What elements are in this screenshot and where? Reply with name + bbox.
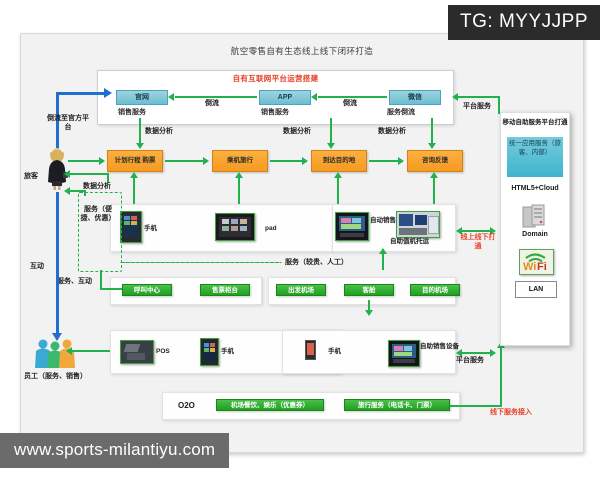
pos-terminal-icon	[120, 340, 154, 364]
internet-platform-title: 自有互联网平台运营搭建	[98, 73, 453, 84]
connector-platform-service-top	[458, 96, 500, 98]
connector-app-step3	[330, 118, 332, 144]
connector-step2-devices	[238, 176, 240, 204]
connector-platform-service-bottom	[460, 352, 492, 354]
site-watermark: www.sports-milantiyu.com	[0, 433, 229, 468]
service-dashed-region	[78, 192, 122, 272]
device-label-pad: pad	[265, 225, 277, 233]
arrow-wechat-to-app	[311, 93, 317, 101]
arrow-step2-step3	[302, 157, 308, 165]
divert-path-horizontal	[56, 92, 108, 95]
arrow-devices-step1	[130, 172, 138, 178]
domain-server-icon	[521, 203, 551, 231]
connector-step1-step2	[165, 160, 205, 162]
touchpoint-call-center[interactable]: 呼叫中心	[122, 284, 172, 296]
connector-touchpoint-left-v	[100, 270, 102, 290]
staff-kiosk-icon	[388, 340, 420, 367]
connector-step4-devices	[433, 176, 435, 204]
connector-website-step1	[139, 118, 141, 144]
arrow-manual-service	[379, 248, 387, 254]
flow-label-divert-1: 倒流	[205, 99, 219, 108]
o2o-item-dining[interactable]: 机场餐饮、娱乐（优惠券）	[216, 399, 324, 411]
data-analysis-left-label: 数据分析	[83, 182, 111, 191]
staff-avatars	[30, 337, 80, 369]
arrow-cabin-down	[365, 310, 373, 316]
arrow-website-step1	[136, 143, 144, 149]
manual-service-label: 服务（较贵、人工）	[285, 258, 348, 267]
device-label-pos: POS	[156, 348, 170, 356]
touchpoint-destination-airport[interactable]: 目的机场	[410, 284, 460, 296]
svg-text:Wi: Wi	[523, 261, 536, 272]
data-analysis-label-2: 数据分析	[283, 127, 311, 136]
data-analysis-label-1: 数据分析	[145, 127, 173, 136]
passenger-label: 旅客	[24, 172, 38, 181]
arrow-step1-step2	[203, 157, 209, 165]
lan-label: LAN	[515, 281, 557, 298]
arrow-devices-step2	[235, 172, 243, 178]
connector-app-to-website	[175, 96, 257, 98]
interaction-label: 互动	[30, 262, 44, 271]
checkin-machine-icon	[396, 211, 440, 238]
platform-column-heading: 移动自助服务平台打通	[501, 118, 569, 127]
wifi-icon: Wi Fi	[519, 249, 554, 275]
connector-online-offline	[460, 230, 492, 232]
device-label-staff-phone-1: 手机	[221, 348, 234, 356]
platform-service-label-bottom: 平台服务	[456, 356, 484, 365]
o2o-title: O2O	[178, 401, 195, 410]
touchpoint-departure-airport[interactable]: 出发机场	[276, 284, 326, 296]
divert-label: 倒流至官方平台	[44, 114, 92, 132]
svg-text:Fi: Fi	[537, 261, 547, 272]
flow-label-divert-2: 倒流	[343, 99, 357, 108]
channel-sublabel-website: 销售服务	[118, 107, 146, 117]
connector-wechat-to-app	[318, 96, 387, 98]
connector-step2-step3	[270, 160, 304, 162]
interaction-path	[56, 192, 59, 337]
tablet-icon	[215, 213, 255, 241]
journey-step-4[interactable]: 咨询反馈	[407, 150, 463, 172]
unified-app-service-box: 统一应用服务（旅客、内部）	[507, 137, 563, 177]
arrow-wechat-step4	[428, 143, 436, 149]
service-interaction-label: 服务、互动	[57, 277, 92, 286]
arrow-step3-step4	[398, 157, 404, 165]
telegram-watermark: TG: MYYJJPP	[448, 5, 600, 40]
staff-smartphone-icon-1	[200, 338, 219, 366]
device-label-staff-phone-2: 手机	[328, 348, 341, 356]
connector-step1-devices	[133, 176, 135, 204]
connector-analysis-to-passenger	[70, 173, 109, 175]
smartphone-icon	[120, 211, 142, 243]
data-analysis-label-3: 数据分析	[378, 127, 406, 136]
connector-step3-devices	[337, 176, 339, 204]
connector-offline-access-h	[450, 405, 502, 407]
arrow-devices-step4	[430, 172, 438, 178]
connector-manual-service	[382, 252, 384, 270]
offline-access-label: 线下服务接入	[490, 408, 564, 417]
arrow-app-step3	[327, 143, 335, 149]
arrow-devices-to-staff	[66, 347, 72, 355]
html5-cloud-label: HTML5+Cloud	[501, 185, 569, 192]
journey-step-1[interactable]: 计划行程 购票	[107, 150, 163, 172]
o2o-item-travel[interactable]: 旅行服务（电话卡、门票）	[344, 399, 450, 411]
arrow-platform-service-bottom-right	[490, 349, 496, 357]
arrow-devices-step3	[334, 172, 342, 178]
connector-offline-access-v	[500, 348, 502, 406]
service-convenience-label: 服务（便捷、优惠）	[80, 205, 116, 223]
domain-label: Domain	[501, 231, 569, 238]
manual-service-dashed-line	[120, 262, 282, 263]
touchpoint-ticket-counter[interactable]: 售票柜台	[200, 284, 250, 296]
staff-label: 员工（服务、销售）	[24, 372, 87, 381]
device-label-self-checkin: 自助值机托运	[390, 238, 429, 246]
touchpoint-cabin[interactable]: 客舱	[344, 284, 394, 296]
platform-column-panel: 移动自助服务平台打通 统一应用服务（旅客、内部） HTML5+Cloud Dom…	[500, 112, 570, 346]
arrow-divert-to-platform	[104, 88, 112, 98]
online-offline-label: 线上线下打通	[460, 233, 496, 251]
staff-smartphone-icon-2	[305, 340, 316, 360]
arrow-platform-service-top	[452, 93, 458, 101]
device-label-phone: 手机	[144, 225, 157, 233]
diagram-canvas: 航空零售自有生态线上线下闭环打造 自有互联网平台运营搭建 官网 销售服务 APP…	[0, 0, 600, 480]
arrow-analysis-to-passenger	[64, 170, 70, 178]
channel-box-wechat[interactable]: 微信	[389, 90, 441, 105]
channel-sublabel-app: 销售服务	[261, 107, 289, 117]
passenger-avatar	[44, 148, 70, 190]
journey-step-3[interactable]: 到达目的地	[311, 150, 367, 172]
arrow-passenger-step1	[99, 157, 105, 165]
journey-step-2[interactable]: 乘机旅行	[212, 150, 268, 172]
arrow-service-to-passenger	[64, 187, 70, 195]
arrow-app-to-website	[168, 93, 174, 101]
page-title: 航空零售自有生态线上线下闭环打造	[21, 45, 583, 57]
connector-wechat-step4	[431, 118, 433, 144]
platform-service-label-top: 平台服务	[463, 102, 491, 111]
kiosk-icon	[335, 212, 369, 241]
connector-service-to-passenger	[70, 190, 86, 192]
device-label-staff-kiosk: 自助销售设备	[420, 343, 459, 351]
channel-box-website[interactable]: 官网	[116, 90, 168, 105]
connector-passenger-step1	[68, 160, 101, 162]
connector-step3-step4	[369, 160, 400, 162]
connector-touchpoint-left-h	[100, 288, 122, 290]
channel-box-app[interactable]: APP	[259, 90, 311, 105]
channel-sublabel-wechat: 服务倒流	[387, 107, 415, 117]
connector-devices-to-staff	[72, 350, 110, 352]
